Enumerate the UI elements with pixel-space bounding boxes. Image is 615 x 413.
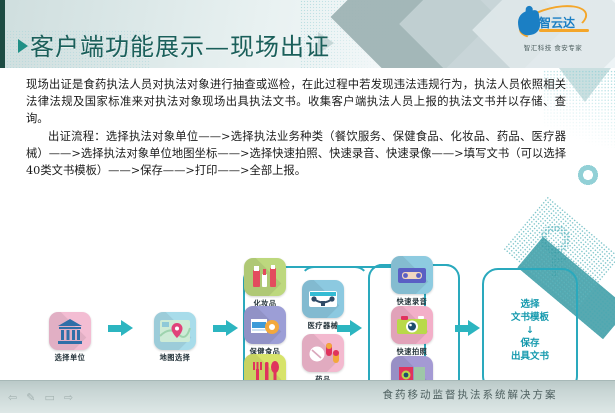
flow-node-photo[interactable]: 快速拍照 xyxy=(377,306,447,357)
body-paragraphs: 现场出证是食药执法人员对执法对象进行抽查或巡检，在此过程中若发现违法违规行为，执… xyxy=(26,76,566,179)
cosmetics-icon xyxy=(244,258,286,296)
final-line-2: 文书模板 xyxy=(511,311,549,324)
nav-pen-icon[interactable]: ✎ xyxy=(26,392,35,403)
flow-node-select-unit[interactable]: 选择单位 xyxy=(35,312,105,363)
page-title: 客户端功能展示—现场出证 xyxy=(18,27,330,62)
title-triangle-icon xyxy=(18,39,28,53)
flow-node-medicine[interactable]: 药品 xyxy=(288,334,358,380)
flow-arrow-4 xyxy=(455,320,481,336)
nav-next-icon[interactable]: ⇨ xyxy=(64,392,73,403)
logo-tagline: 智汇科技 食安专家 xyxy=(501,42,605,52)
map-pin-icon xyxy=(154,312,196,350)
flow-node-audio-record[interactable]: 快速录音 xyxy=(377,256,447,307)
nav-previous-icon[interactable]: ⇦ xyxy=(8,392,17,403)
logo-mark: 智云达 xyxy=(512,6,594,38)
logo-underline xyxy=(539,29,589,32)
camcorder-icon xyxy=(391,356,433,380)
slide: 客户端功能展示—现场出证 智云达 智汇科技 食安专家 xyxy=(0,0,615,413)
body-paragraph-2: 出证流程：选择执法对象单位——>选择执法业务种类（餐饮服务、保健食品、化妆品、药… xyxy=(26,128,566,180)
footer-title: 食药移动监督执法系统解决方案 xyxy=(350,387,590,402)
decoration-ring xyxy=(577,164,599,186)
page-title-text: 客户端功能展示—现场出证 xyxy=(30,33,330,61)
header-left-accent-bar xyxy=(0,0,5,68)
footer-divider xyxy=(0,380,615,381)
process-flow-diagram: 选择单位 地图选择 xyxy=(0,254,615,380)
nav-menu-icon[interactable]: ▭ xyxy=(44,392,54,403)
flow-label-map-select: 地图选择 xyxy=(140,353,210,363)
camera-icon xyxy=(391,306,433,344)
medical-device-icon xyxy=(302,280,344,318)
final-output-text: 选择 文书模板 ↓ 保存 出具文书 xyxy=(511,298,549,363)
catering-icon xyxy=(244,354,286,380)
medicine-icon xyxy=(302,334,344,372)
company-logo: 智云达 智汇科技 食安专家 xyxy=(501,6,605,60)
final-output-box[interactable]: 选择 文书模板 ↓ 保存 出具文书 xyxy=(482,268,578,380)
flow-arrow-1 xyxy=(108,320,134,336)
final-line-1: 选择 xyxy=(511,298,549,311)
flow-label-select-unit: 选择单位 xyxy=(35,353,105,363)
health-food-icon xyxy=(244,306,286,344)
bank-icon xyxy=(49,312,91,350)
final-line-4: 保存 xyxy=(511,337,549,350)
flow-node-video-record[interactable]: 快速录像 xyxy=(377,356,447,380)
audio-recorder-icon xyxy=(391,256,433,294)
presentation-nav-controls[interactable]: ⇦ ✎ ▭ ⇨ xyxy=(8,392,73,403)
body-paragraph-1: 现场出证是食药执法人员对执法对象进行抽查或巡检，在此过程中若发现违法违规行为，执… xyxy=(26,76,566,128)
final-line-3: ↓ xyxy=(511,324,549,337)
slide-footer: 食药移动监督执法系统解决方案 ⇦ ✎ ▭ ⇨ xyxy=(0,380,615,413)
slide-header: 客户端功能展示—现场出证 智云达 智汇科技 食安专家 xyxy=(0,0,615,68)
final-line-5: 出具文书 xyxy=(511,350,549,363)
flow-node-map-select[interactable]: 地图选择 xyxy=(140,312,210,363)
slide-body: 现场出证是食药执法人员对执法对象进行抽查或巡检，在此过程中若发现违法违规行为，执… xyxy=(0,68,615,380)
